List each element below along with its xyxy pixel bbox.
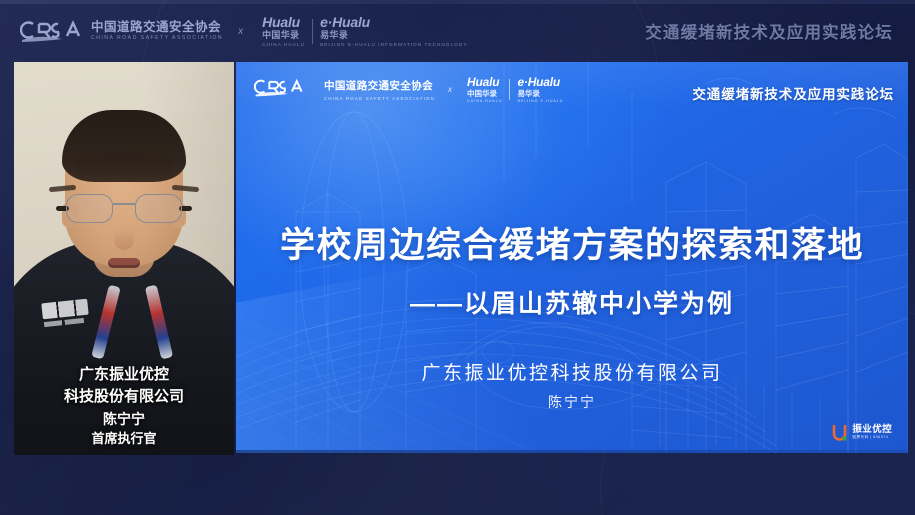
slide-organization: 广东振业优控科技股份有限公司 xyxy=(236,358,908,385)
slide-hualu-name-sub: CHINA HUALU xyxy=(467,100,502,104)
zhenye-u-icon xyxy=(832,424,847,441)
glasses-bridge xyxy=(113,203,135,205)
broadcast-screen: 中国道路交通安全协会 CHINA ROAD SAFETY ASSOCIATION… xyxy=(0,0,915,515)
ehualu-name-cn: 易华录 xyxy=(320,31,468,40)
ehualu-logo: e·Hualu 易华录 BEIJING E-HUALU INFORMATION … xyxy=(320,15,468,48)
slide-bottom-edge xyxy=(236,450,908,453)
slide-logo-group: 中国道路交通安全协会 CHINA ROAD SAFETY ASSOCIATION… xyxy=(254,76,563,103)
speaker-glasses xyxy=(63,194,185,224)
hualu-name-cn: 中国华录 xyxy=(262,31,305,40)
zhenye-name-cn: 振业优控 xyxy=(852,425,892,435)
speaker-nose xyxy=(115,228,134,250)
hualu-name-en: Hualu xyxy=(262,15,305,29)
speaker-video-panel[interactable]: 广东振业优控 科技股份有限公司 陈宁宁 首席执行官 xyxy=(14,62,234,455)
slide-hualu-name-en: Hualu xyxy=(467,76,502,88)
caption-line-name: 陈宁宁 xyxy=(14,409,234,429)
slide-crsa-logo-text: 中国道路交通安全协会 CHINA ROAD SAFETY ASSOCIATION xyxy=(324,78,435,101)
slide-logo-separator-x: x xyxy=(448,85,452,94)
slide-crsa-name-en: CHINA ROAD SAFETY ASSOCIATION xyxy=(324,96,435,101)
glasses-lens-left xyxy=(66,194,113,223)
forum-title-top: 交通缓堵新技术及应用实践论坛 xyxy=(645,19,893,43)
zhenye-stock-code: 股票代码 | 836374 xyxy=(852,436,892,440)
hualu-logo-group: Hualu 中国华录 CHINA HUALU e·Hualu 易华录 BEIJI… xyxy=(262,15,468,48)
slide-title: 学校周边综合缓堵方案的探索和落地 xyxy=(236,217,908,268)
slide-ehualu-logo: e·Hualu 易华录 BEIJING E-HUALU xyxy=(517,76,563,103)
slide-crsa-name-cn: 中国道路交通安全协会 xyxy=(324,78,435,93)
crsa-name-en: CHINA ROAD SAFETY ASSOCIATION xyxy=(91,36,223,41)
crsa-logo-text: 中国道路交通安全协会 CHINA ROAD SAFETY ASSOCIATION xyxy=(91,21,223,42)
ehualu-name-sub: BEIJING E-HUALU INFORMATION TECHNOLOGY xyxy=(320,43,468,48)
speaker-mouth xyxy=(108,258,140,268)
presentation-slide[interactable]: 中国道路交通安全协会 CHINA ROAD SAFETY ASSOCIATION… xyxy=(236,62,908,453)
slide-presenter: 陈宁宁 xyxy=(236,392,908,412)
slide-hualu-logo: Hualu 中国华录 CHINA HUALU xyxy=(467,76,502,103)
slide-hualu-name-cn: 中国华录 xyxy=(467,90,502,98)
glasses-lens-right xyxy=(135,194,182,223)
speaker-hair xyxy=(62,110,186,182)
slide-ehualu-name-cn: 易华录 xyxy=(517,90,563,98)
slide-crsa-logo-icon xyxy=(254,77,316,103)
slide-forum-banner: 交通缓堵新技术及应用实践论坛 xyxy=(692,83,894,103)
slide-footer-logo: 振业优控 股票代码 | 836374 xyxy=(832,424,892,441)
slide-ehualu-name-en: e·Hualu xyxy=(517,76,563,88)
zhenye-logo-text: 振业优控 股票代码 | 836374 xyxy=(852,425,892,440)
caption-line-company-1: 广东振业优控 xyxy=(14,364,234,386)
speaker-caption-overlay: 广东振业优控 科技股份有限公司 陈宁宁 首席执行官 xyxy=(14,364,234,449)
ehualu-name-en: e·Hualu xyxy=(320,15,468,29)
slide-subtitle: ——以眉山苏辙中小学为例 xyxy=(236,284,908,320)
logo-divider xyxy=(312,19,313,44)
slide-logo-divider xyxy=(509,79,510,100)
crsa-name-cn: 中国道路交通安全协会 xyxy=(91,21,223,34)
caption-line-role: 首席执行官 xyxy=(14,430,234,449)
logo-separator-x: x xyxy=(238,26,243,37)
slide-hualu-logo-group: Hualu 中国华录 CHINA HUALU e·Hualu 易华录 BEIJI… xyxy=(467,76,563,103)
crsa-logo-icon xyxy=(20,18,82,44)
slide-ehualu-name-sub: BEIJING E-HUALU xyxy=(517,100,563,104)
hualu-logo: Hualu 中国华录 CHINA HUALU xyxy=(262,15,305,48)
top-bar-logo-group: 中国道路交通安全协会 CHINA ROAD SAFETY ASSOCIATION… xyxy=(20,15,468,48)
hualu-name-sub: CHINA HUALU xyxy=(262,43,305,48)
top-bar: 中国道路交通安全协会 CHINA ROAD SAFETY ASSOCIATION… xyxy=(0,0,915,62)
caption-line-company-2: 科技股份有限公司 xyxy=(14,386,234,408)
